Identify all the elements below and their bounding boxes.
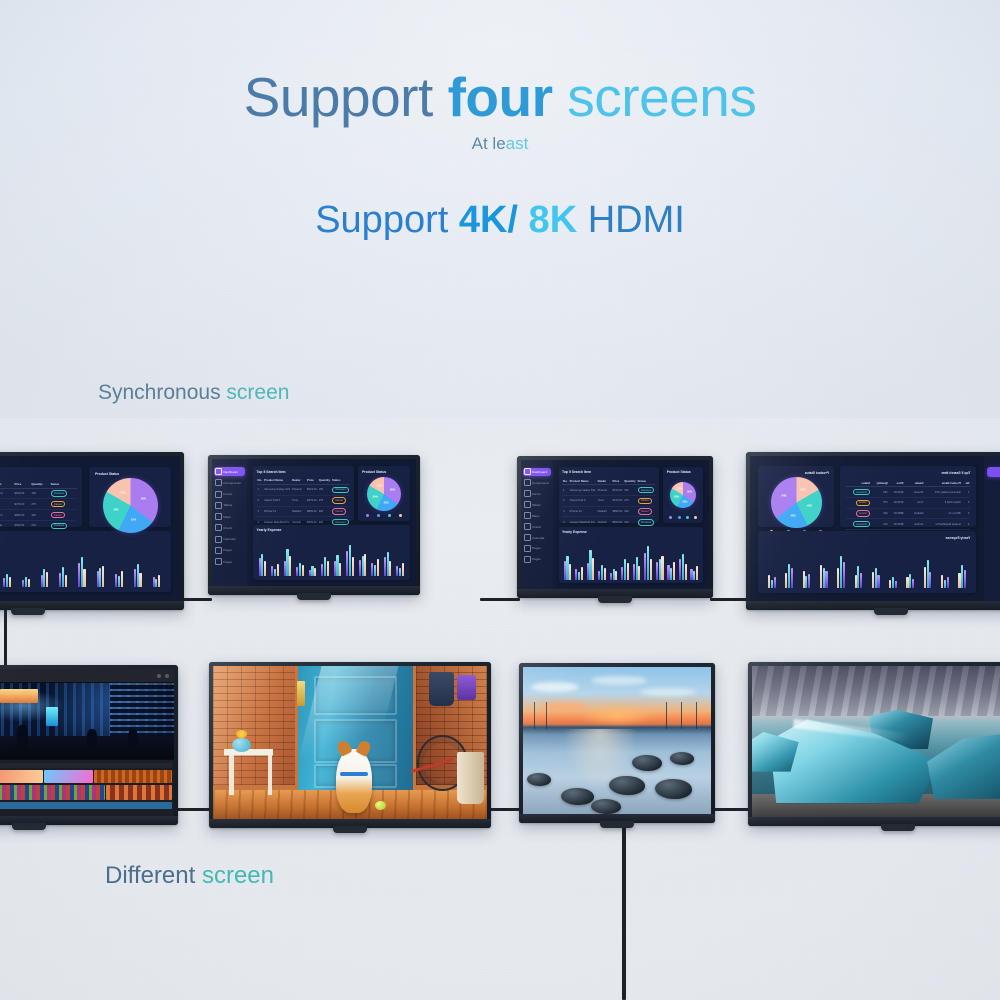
bar [158,575,160,587]
bar-group [97,555,105,587]
table-cell: $899.00 [889,508,905,519]
table-cell: 275 [871,497,889,508]
status-badge-cell: Cancel [331,506,350,517]
yearly-expense-bar-chart [562,539,700,581]
yearly-expense-card: Yearly Expense [758,531,975,592]
bar [774,577,776,587]
video-editor-monitor[interactable] [0,665,178,825]
product-status-card: Product Status36%22%26%17% [663,467,703,523]
bar [791,568,793,587]
bar [661,556,663,581]
hanging-coat [429,672,454,706]
dashboard-monitor-1[interactable]: DashboardComponentsFormsTablesMapsCharts… [0,452,184,610]
bar-group [334,542,342,577]
sunset-monitor[interactable] [519,663,715,823]
bar-group [396,542,404,577]
sidebar-item-calendar[interactable]: Calendar [214,535,245,544]
bar [857,566,859,587]
bar-group [889,553,897,588]
table-column-header: Status [50,480,77,488]
top-search-item-card: Top 5 Search ItemNo.Product NameDealerPr… [0,467,82,527]
bar [679,559,681,580]
ice-block-right [927,732,1000,798]
table-row[interactable]: 1Samsung Galaxy S21Phoenix$619.00150Rele… [0,488,77,499]
status-badge-cell: Released [50,488,77,499]
table-column-header: Dealer [291,477,306,485]
bar [578,572,580,580]
bar-group [958,553,966,588]
bar [569,564,571,580]
headline-screens-word: screens [552,66,756,128]
status-badge-cell: Cancel [50,499,77,510]
card-title: Top 5 Search Item [257,470,350,474]
sidebar-item-label: Pages [223,560,232,564]
sidebar-item-tables[interactable]: Tables [214,501,245,510]
monitor-screen [752,666,1000,817]
timeline-ruler[interactable] [0,763,172,768]
components-icon [215,479,222,486]
status-badge: Released [332,487,349,493]
neon-city-scene [0,683,174,759]
status-badge: Released [638,519,655,525]
dashboard-main: Top 5 Search ItemNo.Product NameDealerPr… [247,459,416,586]
bar [624,559,626,580]
dashboard-main: Top 5 Search ItemNo.Product NameDealerPr… [750,456,984,601]
sidebar-item-dashboard[interactable]: Dashboard [214,467,245,476]
status-badge: Released [638,487,655,493]
card-title: Top 5 Search Item [846,471,971,475]
sidebar-item-maps[interactable]: Maps [214,512,245,521]
table-cell: 150 [623,485,636,496]
yearly-expense-bar-chart [257,537,407,576]
bar [581,567,583,580]
status-badge: Cancel [638,498,652,504]
bar [139,573,141,587]
bar-group [384,542,392,577]
diff-label-part-1: Different [105,862,195,889]
sidebar-item-maps[interactable]: Maps [523,511,551,520]
bar [659,559,661,581]
bar [644,553,646,581]
headline-four-word: four [448,66,553,128]
card-title: Yearly Expense [562,530,700,534]
cloud [542,702,587,709]
bar [768,575,770,588]
sidebar-item-forms[interactable]: Forms [523,489,551,498]
animation-monitor[interactable] [209,662,491,828]
bar [25,577,27,587]
bar [924,567,926,588]
sidebar-item-label: Pages [532,557,541,561]
bar [895,581,897,588]
bar [65,575,67,587]
table-row[interactable]: 4Huawei MatePad ProVertical$529.00210Rel… [846,519,971,530]
table-cell: $529.00 [889,519,905,530]
forms-icon [215,491,222,498]
table-cell: 150 [318,485,331,496]
sidebar-item-components[interactable]: Components [523,478,551,487]
table-header-row: No.Product NameDealerPriceQuantityStatus [0,480,77,488]
table-cell: Phoenix [904,487,924,498]
pie-chart-area: 36%22%26%17% [362,475,406,512]
timeline-track[interactable] [0,785,172,800]
sidebar-item-components[interactable]: Components [214,478,245,487]
table-column-header: Status [846,479,871,487]
bar [9,577,11,587]
table-leg [268,755,272,795]
grid-icon [215,468,222,475]
sidebar-item-calendar[interactable]: Calendar [523,533,551,542]
bar-group [621,543,629,580]
card-title: Product Status [667,470,700,474]
toolbar-dot-icon [157,674,161,678]
hanging-bag [457,675,476,699]
dashboard-monitor-3[interactable]: DashboardComponentsFormsTablesMapsCharts… [517,456,713,598]
table-column-header: Quantity [623,477,636,485]
bar-group [259,542,267,577]
legend-dot-pending [377,514,380,517]
legend-dot-in-stock [388,514,391,517]
pie-slice-label: 17% [120,491,125,494]
bar-group [803,553,811,588]
grid-icon [524,468,531,475]
analytics-dashboard: DashboardComponentsFormsTablesMapsCharts… [212,459,416,586]
bar [59,573,61,587]
bar [805,576,807,588]
monitor-screen [523,667,711,814]
table-leg [229,755,233,795]
bar [929,572,931,588]
table-cell: Trust [904,497,924,508]
calendar-icon [215,536,222,543]
timeline-clip[interactable] [0,802,172,809]
iceberg-monitor[interactable] [748,662,1000,826]
bar [860,573,862,588]
status-badge: Released [51,490,68,496]
table-column-header: Dealer [904,479,924,487]
bar-group [3,555,11,587]
editor-toolbar[interactable] [0,669,174,683]
bar [587,563,589,580]
table-cell: 150 [30,488,49,499]
table-row[interactable]: 2Xiaomi Pad 5Trust$379.00275Cancel [562,495,655,506]
table-cell: $619.00 [889,487,905,498]
table-cell: iPhone 13 [569,506,597,517]
pie-slice-label: 17% [377,484,382,487]
bar [843,562,845,588]
synchronous-screen-label: Synchronous screen [98,382,289,403]
table-column-header: Product Name [924,479,961,487]
bar [803,571,805,588]
status-badge-cell: Cancel [846,497,871,508]
bar [592,558,594,580]
timeline-track[interactable] [0,802,172,809]
timeline-clip[interactable] [0,785,105,800]
sidebar-item-charts[interactable]: Charts [214,524,245,533]
components-icon [524,479,531,486]
bar [656,562,658,580]
bar-group [371,542,379,577]
bar [615,571,617,580]
bar-group [59,555,67,587]
subtitle-part-2: ast [506,134,529,153]
status-badge-cell: Released [331,485,350,496]
bar [566,556,568,581]
bar-group [587,543,595,580]
sidebar-item-pages[interactable]: Pages [987,558,1000,567]
bar [837,568,839,587]
sidebar-item-forms[interactable]: Forms [214,490,245,499]
bar-group [296,542,304,577]
status-badge-cell: Cancel [637,495,656,506]
dashboard-sidebar[interactable]: DashboardComponentsFormsTablesMapsCharts… [984,456,1000,601]
bar [785,573,787,588]
bar-group [610,543,618,580]
pie-slice-label: 26% [807,505,812,508]
table-row[interactable]: 1Samsung Galaxy S21Phoenix$619.00150Rele… [562,485,655,496]
bar-group [134,555,142,587]
bar [788,564,790,588]
stone [609,776,645,795]
pie-chart-area: 36%22%26%17% [667,475,700,515]
table-cell: Phoenix [597,485,612,496]
cloud [531,682,580,692]
analytics-dashboard: DashboardComponentsFormsTablesMapsCharts… [521,460,709,589]
dashboard-monitor-2[interactable]: DashboardComponentsFormsTablesMapsCharts… [208,455,420,595]
headline-support-word: Support [244,66,448,128]
card-title: Yearly Expense [0,536,165,540]
bar [685,564,687,580]
status-badge: Released [51,523,68,529]
table-row[interactable]: 3iPhone 13Radiant$899.00320Cancel [0,510,77,521]
bar [362,556,364,576]
table-row[interactable]: 4Huawei MatePad ProVertical$529.00210Rel… [0,520,77,531]
card-title: Product Status [362,470,406,474]
dashboard-sidebar[interactable]: DashboardComponentsFormsTablesMapsCharts… [212,459,247,586]
bar [352,557,354,576]
table-column-header: Quantity [30,480,49,488]
dog-collar [340,772,367,776]
cloud [640,688,696,697]
table-cell: $619.00 [611,485,623,496]
top-search-item-card: Top 5 Search ItemNo.Product NameDealerPr… [253,466,354,521]
table-column-header: Status [331,477,350,485]
bar [46,572,48,587]
sidebar-item-pages[interactable]: Pages [523,544,551,553]
product-status-pie-chart: 36%22%26%17% [771,477,822,528]
bar [399,568,401,576]
glacier-ice-scene [752,666,1000,817]
dashboard-sidebar[interactable]: DashboardComponentsFormsTablesMapsCharts… [521,460,553,589]
dashboard-main: Top 5 Search ItemNo.Product NameDealerPr… [553,460,709,589]
dashboard-main: Top 5 Search ItemNo.Product NameDealerPr… [0,456,180,601]
sidebar-item-pages-2[interactable]: Pages [214,557,245,566]
sidebar-item-maps[interactable]: Maps [987,519,1000,528]
bar [638,566,640,580]
timeline-track[interactable] [0,770,172,783]
diff-label-part-2: screen [195,862,274,889]
sidebar-item-label: Components [532,481,550,485]
monitor-chin [746,601,1000,610]
timeline-clip[interactable] [106,785,172,800]
table-row[interactable]: 1Samsung Galaxy S21Phoenix$619.00150Rele… [846,487,971,498]
analytics-dashboard-mirrored: DashboardComponentsFormsTablesMapsCharts… [750,456,1000,601]
maps-icon [524,512,531,519]
table-cell: 320 [318,506,331,517]
sidebar-item-components[interactable]: Components [987,480,1000,489]
pie-slice-label: 22% [131,519,136,522]
sidebar-item-label: Charts [223,526,232,530]
table-cell: Xiaomi Pad 5 [569,495,597,506]
table-cell: Radiant [291,506,306,517]
table-cell: 2 [962,497,971,508]
table-column-header: Price [306,477,318,485]
table-row[interactable]: 1Samsung Galaxy S21Phoenix$619.00150Rele… [257,485,350,496]
status-badge-cell: Released [50,520,77,531]
bar-group [785,553,793,588]
yearly-expense-bar-chart [764,547,971,588]
bar-group [768,553,776,588]
bar [296,567,298,576]
bar [872,572,874,588]
table-row[interactable]: 3iPhone 13Radiant$899.00320Cancel [257,506,350,517]
bar-group [271,542,279,577]
pages-icon [524,556,531,563]
stone [591,799,621,814]
bar [964,570,966,588]
bar-group [309,542,317,577]
bar [613,569,615,580]
pier-post [546,702,547,728]
table-row[interactable]: 2Xiaomi Pad 5Trust$379.00275Cancel [257,495,350,506]
table-cell: 3 [962,508,971,519]
cable-top-horizontal-3 [710,598,750,601]
sidebar-item-calendar[interactable]: Calendar [987,545,1000,554]
bar-group [820,553,828,588]
hdmi-8k-word: 8K [518,199,577,241]
hdmi-word: HDMI [577,199,685,241]
table-column-header: Quantity [318,477,331,485]
sidebar-item-dashboard[interactable]: Dashboard [523,468,551,477]
table-row[interactable]: 2Xiaomi Pad 5Trust$379.00275Cancel [0,499,77,510]
editor-timeline[interactable] [0,759,174,816]
bar-group [321,542,329,577]
sidebar-item-label: Maps [532,514,540,518]
bar [134,569,136,587]
sidebar-item-dashboard[interactable]: Dashboard [987,467,1000,476]
bar [402,563,404,576]
legend-dot-pending [678,516,681,519]
bar [339,563,341,576]
bar [102,566,104,587]
legend-dot-cancel [694,516,697,519]
sidebar-item-tables[interactable]: Tables [523,500,551,509]
sidebar-item-tables[interactable]: Tables [987,506,1000,515]
table-cell: Xiaomi Pad 5 [263,495,291,506]
table-row[interactable]: 3iPhone 13Radiant$899.00320Cancel [562,506,655,517]
bar [598,571,600,581]
bar [121,571,123,587]
timeline-clip[interactable] [94,770,172,783]
cable-bottom-horizontal-1 [172,808,212,811]
sidebar-item-pages-2[interactable]: Pages [523,555,551,564]
bar-group [564,543,572,580]
bar [97,571,99,586]
umbrella-stand [457,752,484,804]
bar [155,579,157,587]
cloud [591,676,647,685]
sidebar-item-charts[interactable]: Charts [987,532,1000,541]
pier-post [534,702,535,728]
bar [286,549,288,577]
sidebar-item-label: Charts [532,525,541,529]
product-status-pie-chart: 36%22%26%17% [367,477,401,511]
timeline-clip[interactable] [0,770,43,783]
bar [274,569,276,577]
bar [334,561,336,576]
pie-chart-area: 36%22%26%17% [95,478,165,533]
table-cell: 150 [871,487,889,498]
timeline-clip[interactable] [44,770,93,783]
sidebar-item-pages-2[interactable]: Pages [987,571,1000,580]
status-badge: Released [853,489,870,495]
bar [289,556,291,577]
sidebar-item-label: Tables [223,503,232,507]
bar-group [667,543,675,580]
headline-secondary: Support 4K/ 8K HDMI [0,201,1000,239]
status-badge-cell: Cancel [331,495,350,506]
sidebar-item-label: Pages [223,548,232,552]
status-badge: Released [853,521,870,527]
stone [655,779,693,800]
bar [627,563,629,580]
table-row[interactable]: 3iPhone 13Radiant$899.00320Cancel [846,508,971,519]
pie-legend [667,516,700,519]
forms-icon [524,490,531,497]
table-column-header: Status [637,477,656,485]
bar [153,577,155,587]
dashboard-monitor-4[interactable]: DashboardComponentsFormsTablesMapsCharts… [746,452,1000,610]
status-badge: Cancel [51,501,65,507]
yearly-expense-bar-chart [0,548,165,587]
monitor-screen [213,666,487,819]
subtitle-part-1: At le [472,134,506,153]
sunset-sea-scene [523,667,711,814]
stone [561,788,595,806]
pie-slice-label: 17% [677,487,682,490]
bar [636,557,638,580]
sidebar-item-forms[interactable]: Forms [987,493,1000,502]
table-cell: Vertical [904,519,924,530]
table-row[interactable]: 2Xiaomi Pad 5Trust$379.00275Cancel [846,497,971,508]
card-title: Top 5 Search Item [562,470,655,474]
table-cell: 275 [30,499,49,510]
neon-sign [0,689,38,703]
sidebar-item-pages[interactable]: Pages [214,546,245,555]
bar [371,563,373,577]
bar [604,568,606,580]
pie-slice-label: 26% [373,495,378,498]
bar [575,569,577,580]
bar [823,568,825,588]
table-cell: Radiant [0,510,14,521]
sidebar-item-charts[interactable]: Charts [523,522,551,531]
sidebar-item-label: Calendar [223,537,236,541]
bar-group [679,543,687,580]
bar-group [359,542,367,577]
headline-subtitle: At least [0,135,1000,152]
bar [907,577,909,588]
